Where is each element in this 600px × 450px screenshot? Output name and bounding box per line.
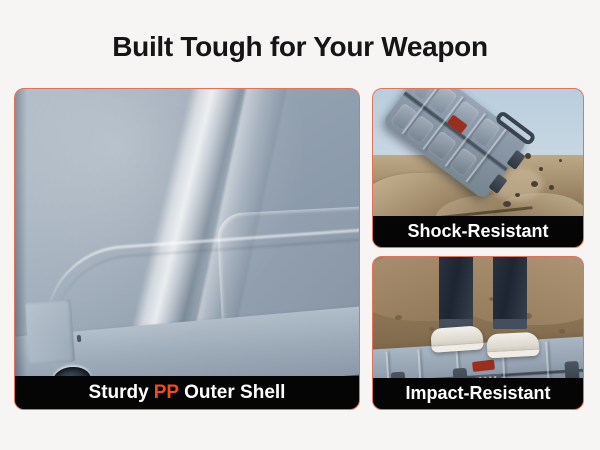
long-case-brand-badge [472, 360, 495, 372]
feature-card-sturdy-shell[interactable]: Sturdy PP Outer Shell [14, 88, 360, 410]
leg-right [493, 257, 527, 329]
sneaker-left [430, 325, 484, 353]
debris-7 [503, 201, 511, 207]
feature-card-impact-resistant[interactable]: Impact-Resistant [372, 256, 584, 410]
shell-closeup-image [15, 89, 359, 409]
caption-sturdy-shell: Sturdy PP Outer Shell [15, 376, 359, 409]
caption-segment-3: Outer Shell [184, 382, 285, 404]
debris-2 [539, 167, 543, 171]
caption-segment-accent: PP [154, 382, 179, 404]
page-title: Built Tough for Your Weapon [0, 30, 600, 64]
pebble-1 [395, 315, 402, 320]
debris-3 [531, 181, 538, 187]
feature-card-shock-resistant[interactable]: Shock-Resistant [372, 88, 584, 248]
debris-6 [559, 159, 562, 162]
caption-shock-resistant: Shock-Resistant [373, 216, 583, 247]
caption-impact-resistant: Impact-Resistant [373, 378, 583, 409]
debris-4 [549, 185, 554, 190]
leg-left [439, 257, 473, 329]
sneaker-right [486, 332, 539, 359]
debris-1 [525, 153, 531, 159]
pebble-4 [559, 329, 565, 334]
shell-gloss [15, 89, 359, 409]
debris-5 [515, 193, 520, 197]
caption-segment-1: Sturdy [89, 382, 149, 404]
